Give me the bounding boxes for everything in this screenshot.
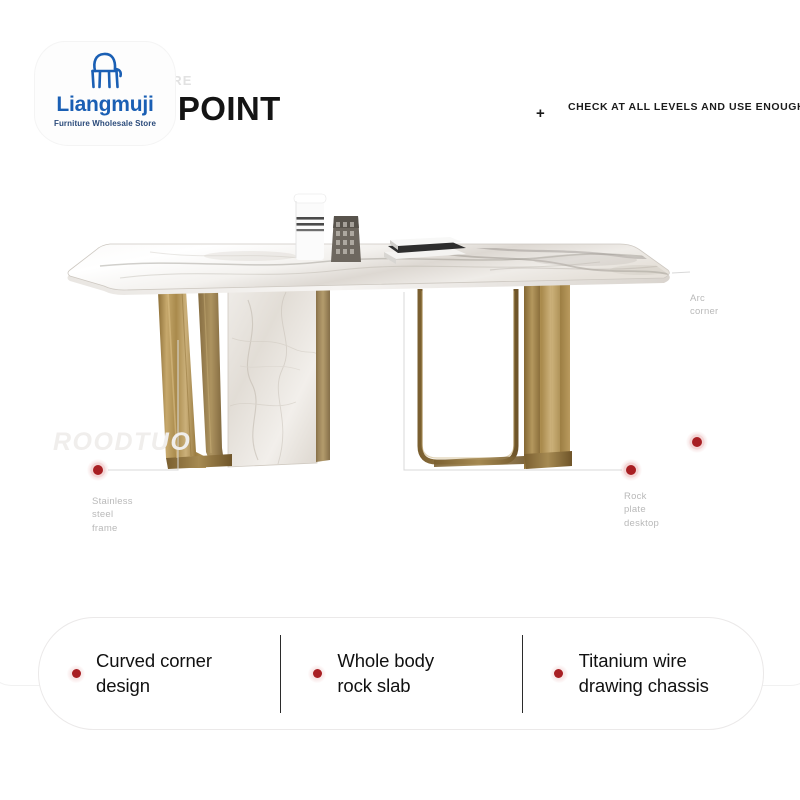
stainless-steel-frame-label: Stainless steel frame — [92, 495, 133, 535]
feature-whole-body-rock-slab[interactable]: Whole body rock slab — [280, 649, 521, 699]
feature-titanium-wire-drawing-chassis[interactable]: Titanium wire drawing chassis — [522, 649, 763, 699]
rock-plate-desktop-label: Rock plate desktop — [624, 490, 659, 530]
product-scene: ROODTUO — [0, 170, 800, 570]
table-decor-canister — [294, 194, 326, 260]
feature-label: Whole body rock slab — [337, 649, 434, 699]
leader-arc-corner — [672, 272, 690, 273]
arc-corner-label: Arc corner — [690, 292, 718, 319]
feature-label: Titanium wire drawing chassis — [579, 649, 709, 699]
plus-icon: + — [536, 106, 545, 121]
dot-core-icon — [93, 465, 103, 475]
feature-curved-corner-design[interactable]: Curved corner design — [39, 649, 280, 699]
dot-core-icon — [626, 465, 636, 475]
bullet-dot-icon — [67, 665, 85, 683]
rock-slab-tabletop — [68, 244, 671, 295]
header-note-text: CHECK AT ALL LEVELS AND USE ENOUGH MATER… — [568, 100, 800, 114]
bullet-dot-icon — [308, 665, 326, 683]
bullet-dot-icon — [550, 665, 568, 683]
feature-highlights-panel: Curved corner design Whole body rock sla… — [38, 617, 764, 730]
rock-plate-desktop-dot[interactable] — [620, 459, 642, 481]
infographic-page: HERE NG POINT Liangmuji Furniture Wholes… — [0, 0, 800, 800]
logo-wordmark: Liangmuji — [56, 94, 153, 115]
feature-label: Curved corner design — [96, 649, 212, 699]
right-pedestal — [420, 284, 572, 469]
dot-core-icon — [692, 437, 702, 447]
chair-icon — [82, 49, 128, 93]
callout-leader-lines — [108, 272, 690, 470]
table-decor-vase — [331, 216, 361, 262]
stainless-steel-frame-dot[interactable] — [87, 459, 109, 481]
brand-logo-badge: Liangmuji Furniture Wholesale Store — [35, 42, 175, 145]
arc-corner-dot[interactable] — [686, 431, 708, 453]
leader-rock-plate-desktop — [404, 292, 622, 470]
watermark: ROODTUO — [53, 428, 191, 457]
logo-tagline: Furniture Wholesale Store — [54, 119, 156, 128]
header: HERE NG POINT Liangmuji Furniture Wholes… — [0, 0, 800, 175]
